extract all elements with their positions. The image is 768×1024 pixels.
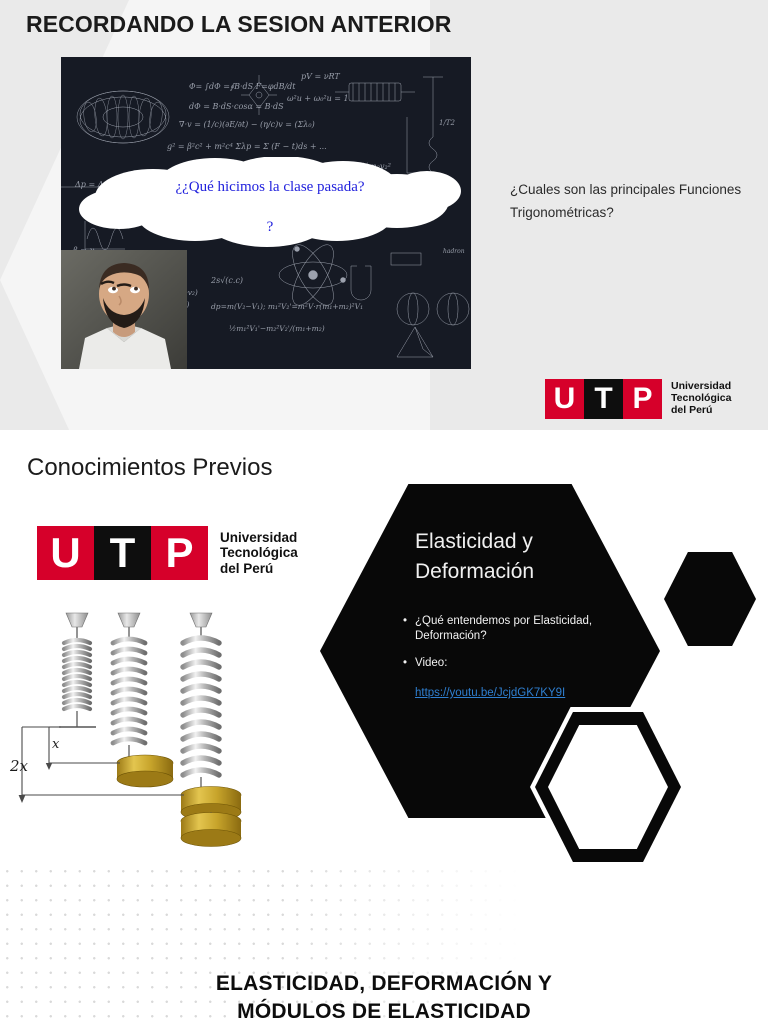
decorative-hexagon-outline [530, 707, 686, 867]
utp-logo-wordmark: Universidad Tecnológica del Perú [220, 530, 298, 575]
video-link[interactable]: https://youtu.be/JcjdGK7KY9I [415, 687, 565, 699]
slide2-title: Conocimientos Previos [27, 454, 272, 482]
list-item: • ¿Qué entendemos por Elasticidad, Defor… [403, 614, 628, 644]
utp-wordmark-line1: Universidad [220, 530, 298, 545]
utp-logo-slide1: U T P Universidad Tecnológica del Perú [545, 379, 731, 419]
svg-text:Φ= ∫dΦ =∮B·dS F=φdB/dt: Φ= ∫dΦ =∮B·dS F=φdB/dt [189, 82, 296, 91]
slide3-title-line2: MÓDULOS DE ELASTICIDAD [0, 998, 768, 1024]
utp-wordmark-line3: del Perú [220, 561, 298, 576]
slide1-question-text: ¿Cuales son las principales Funciones Tr… [510, 178, 760, 224]
svg-text:∇·v = (1/c)(∂E/∂t) − (η/c)v =: ∇·v = (1/c)(∂E/∂t) − (η/c)v = (Σλ₀) [179, 120, 315, 129]
hexagon-heading-line2: Deformación [415, 557, 635, 587]
utp-logo-slide2: U T P Universidad Tecnológica del Perú [37, 526, 298, 580]
springs-weights-graphic: x 2x [8, 605, 273, 855]
utp-logo-mark: U T P [545, 379, 662, 419]
slide3-title-line1: ELASTICIDAD, DEFORMACIÓN Y [0, 970, 768, 998]
hexagon-heading: Elasticidad y Deformación [415, 527, 635, 587]
thought-bubble-text: ¿¿Qué hicimos la clase pasada? [135, 177, 405, 198]
diagram-label-2x: 2x [9, 757, 29, 775]
bullet-dot-icon: • [403, 656, 415, 671]
decorative-hexagon-small [664, 552, 756, 646]
utp-logo-wordmark: Universidad Tecnológica del Perú [671, 381, 731, 416]
svg-text:hadron: hadron [443, 248, 465, 255]
svg-text:g² = β²c² + m²c⁴ Σλp = Σ (F: g² = β²c² + m²c⁴ Σλp = Σ (F − t)ds + ... [167, 142, 327, 151]
photo-thinking-man [61, 250, 187, 369]
slide-recordando-sesion-anterior: RECORDANDO LA SESION ANTERIOR [0, 0, 768, 430]
utp-logo-mark: U T P [37, 526, 208, 580]
svg-text:1/T2: 1/T2 [439, 119, 455, 127]
thought-bubble: ¿¿Qué hicimos la clase pasada? ? [75, 157, 465, 247]
blackboard-physics-image: Φ= ∫dΦ =∮B·dS F=φdB/dt dΦ = B·dS·cosα = … [61, 57, 471, 369]
utp-letter-p: P [623, 379, 662, 419]
brass-weight [181, 813, 241, 847]
bullet-text: ¿Qué entendemos por Elasticidad, Deforma… [415, 614, 628, 644]
utp-wordmark-line2: Tecnológica [220, 545, 298, 560]
diagram-label-x: x [52, 737, 60, 752]
utp-wordmark-line3: del Perú [671, 405, 731, 417]
spring-deformation-diagram: x 2x [8, 605, 273, 855]
bullet-text: Video: [415, 656, 447, 671]
svg-text:dΦ = B·dS·cosα = B·dS: dΦ = B·dS·cosα = B·dS [189, 102, 284, 111]
utp-letter-p: P [151, 526, 208, 580]
brass-weight [117, 755, 173, 787]
utp-letter-t: T [94, 526, 151, 580]
bullet-dot-icon: • [403, 614, 415, 644]
svg-text:pV = νRT: pV = νRT [301, 72, 340, 81]
slide1-title: RECORDANDO LA SESION ANTERIOR [26, 11, 451, 38]
utp-letter-u: U [545, 379, 584, 419]
thought-bubble-question-mark: ? [135, 219, 405, 236]
svg-text:ω²u + ω₀²u = 1: ω²u + ω₀²u = 1 [287, 94, 349, 103]
svg-text:2s√(c.c): 2s√(c.c) [210, 276, 243, 285]
utp-letter-u: U [37, 526, 94, 580]
list-item: • Video: [403, 656, 628, 671]
utp-letter-t: T [584, 379, 623, 419]
slide3-title: ELASTICIDAD, DEFORMACIÓN Y MÓDULOS DE EL… [0, 970, 768, 1024]
hexagon-bullet-list: • ¿Qué entendemos por Elasticidad, Defor… [403, 614, 628, 701]
slide-elasticidad-title: ELASTICIDAD, DEFORMACIÓN Y MÓDULOS DE EL… [0, 864, 768, 1024]
svg-text:dp=m(V₂−V₁); m₁²V₂'=m²V·r(m₁+m: dp=m(V₂−V₁); m₁²V₂'=m²V·r(m₁+m₂)²V₁ [211, 302, 363, 311]
presentation-page: RECORDANDO LA SESION ANTERIOR [0, 0, 768, 1024]
thinking-man-illustration [61, 250, 187, 369]
hexagon-heading-line1: Elasticidad y [415, 527, 635, 557]
svg-text:½m₁²V₁'−m₂²V₂'/(m₁+m₂): ½m₁²V₁'−m₂²V₂'/(m₁+m₂) [229, 324, 325, 333]
